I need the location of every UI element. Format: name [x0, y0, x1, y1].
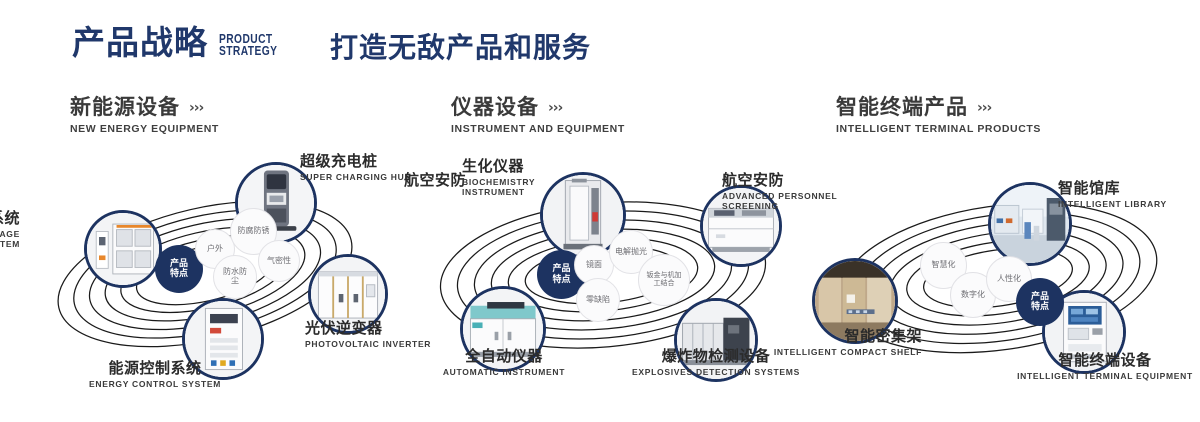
section-title-new-energy: 新能源设备 ››› NEW ENERGY EQUIPMENT — [70, 96, 219, 135]
label-automatic-instrument-en: AUTOMATIC INSTRUMENT — [424, 367, 584, 377]
page-title-english-line2: STRATEGY — [219, 45, 277, 57]
section-title-new-energy-en: NEW ENERGY EQUIPMENT — [70, 123, 219, 135]
label-energy-storage-system-cn: 储能系统 — [0, 210, 20, 227]
core-bubble-line1: 产品 — [552, 264, 570, 274]
feature-bubble-sheetmetal-machining-text: 钣金与机加工结合 — [644, 272, 684, 288]
label-intelligent-compact-shelf-en: INTELLIGENT COMPACT SHELF — [772, 347, 922, 357]
section-title-instrument-cn-row: 仪器设备 ››› — [451, 96, 625, 118]
core-bubble-line2: 特点 — [170, 269, 188, 279]
chevron-right-triple-icon: ››› — [189, 101, 203, 116]
label-intelligent-compact-shelf: 智能密集架 INTELLIGENT COMPACT SHELF — [772, 328, 922, 357]
section-title-intelligent-terminal-en: INTELLIGENT TERMINAL PRODUCTS — [836, 123, 1041, 135]
section-title-instrument: 仪器设备 ››› INSTRUMENT AND EQUIPMENT — [451, 96, 625, 135]
section-title-new-energy-cn: 新能源设备 — [70, 96, 180, 118]
chevron-right-triple-icon: ››› — [548, 101, 562, 116]
feature-bubble-anticorrosion-text: 防腐防锈 — [238, 227, 270, 236]
section-title-intelligent-terminal-cn-row: 智能终端产品 ››› — [836, 96, 1041, 118]
label-energy-storage-system-en: ENERGY STORAGE SYSTEM — [0, 229, 20, 250]
label-intelligent-terminal-equipment: 智能终端设备 INTELLIGENT TERMINAL EQUIPMENT — [1012, 352, 1198, 381]
page-slogan: 打造无敌产品和服务 — [330, 34, 591, 62]
label-automatic-instrument-cn: 全自动仪器 — [424, 348, 584, 365]
label-biochemistry-instrument-cn: 生化仪器 — [462, 158, 582, 175]
cluster-intelligent-terminal: 智慧化 数字化 人性化 产品 特点 智能馆库 INTELLIGENT LIBRA… — [800, 150, 1200, 400]
page-title: 产品战略 — [72, 26, 208, 59]
core-bubble-line2: 特点 — [552, 275, 570, 285]
label-biochemistry-instrument: 生化仪器 BIOCHEMISTRY INSTRUMENT — [462, 158, 582, 197]
feature-bubble-electropolishing-text: 电解抛光 — [615, 248, 647, 257]
label-automatic-instrument: 全自动仪器 AUTOMATIC INSTRUMENT — [424, 348, 584, 377]
label-intelligent-library: 智能馆库 INTELLIGENT LIBRARY — [1058, 180, 1198, 209]
feature-bubble-waterproof-text: 防水防尘 — [220, 268, 250, 286]
feature-bubble-airtight: 气密性 — [258, 240, 300, 282]
core-bubble-line1: 产品 — [1031, 292, 1049, 302]
feature-bubble-waterproof: 防水防尘 — [213, 255, 257, 299]
label-energy-control-system-cn: 能源控制系统 — [70, 360, 240, 377]
page-header: 产品战略 PRODUCT STRATEGY — [72, 26, 290, 59]
label-explosives-detection-systems-en: EXPLOSIVES DETECTION SYSTEMS — [626, 367, 806, 377]
label-energy-control-system: 能源控制系统 ENERGY CONTROL SYSTEM — [70, 360, 240, 389]
core-bubble-intelligent-terminal: 产品 特点 — [1016, 278, 1064, 326]
cluster-new-energy: 产品 特点 户外 防腐防锈 防水防尘 气密性 储能系统 ENERGY STORA… — [0, 150, 420, 400]
label-intelligent-library-en: INTELLIGENT LIBRARY — [1058, 199, 1198, 209]
label-intelligent-terminal-equipment-cn: 智能终端设备 — [1012, 352, 1198, 369]
label-intelligent-terminal-equipment-en: INTELLIGENT TERMINAL EQUIPMENT — [1012, 371, 1198, 381]
label-energy-control-system-en: ENERGY CONTROL SYSTEM — [70, 379, 240, 389]
core-bubble-line1: 产品 — [170, 259, 188, 269]
section-title-instrument-en: INSTRUMENT AND EQUIPMENT — [451, 123, 625, 135]
feature-bubble-zero-defect: 零缺陷 — [576, 278, 620, 322]
core-bubble-line2: 特点 — [1031, 302, 1049, 312]
section-title-intelligent-terminal-cn: 智能终端产品 — [836, 96, 968, 118]
label-biochemistry-instrument-en: BIOCHEMISTRY INSTRUMENT — [462, 177, 582, 198]
node-energy-storage-system[interactable] — [84, 210, 162, 288]
page-title-english: PRODUCT STRATEGY — [219, 33, 277, 57]
cluster-instrument: 产品 特点 镜面 电解抛光 钣金与机加工结合 零缺陷 航空安防 生化仪器 BIO… — [400, 150, 820, 400]
label-energy-storage-system: 储能系统 ENERGY STORAGE SYSTEM — [0, 210, 20, 249]
section-title-intelligent-terminal: 智能终端产品 ››› INTELLIGENT TERMINAL PRODUCTS — [836, 96, 1041, 135]
label-intelligent-library-cn: 智能馆库 — [1058, 180, 1198, 197]
feature-bubble-sheetmetal-machining: 钣金与机加工结合 — [638, 254, 690, 306]
section-title-instrument-cn: 仪器设备 — [451, 96, 539, 118]
section-title-new-energy-cn-row: 新能源设备 ››› — [70, 96, 219, 118]
product-strategy-infographic: 产品战略 PRODUCT STRATEGY 打造无敌产品和服务 新能源设备 ››… — [0, 0, 1200, 422]
energy-storage-cabinet-icon — [87, 213, 159, 285]
chevron-right-triple-icon: ››› — [977, 101, 991, 116]
label-intelligent-compact-shelf-cn: 智能密集架 — [772, 328, 922, 345]
